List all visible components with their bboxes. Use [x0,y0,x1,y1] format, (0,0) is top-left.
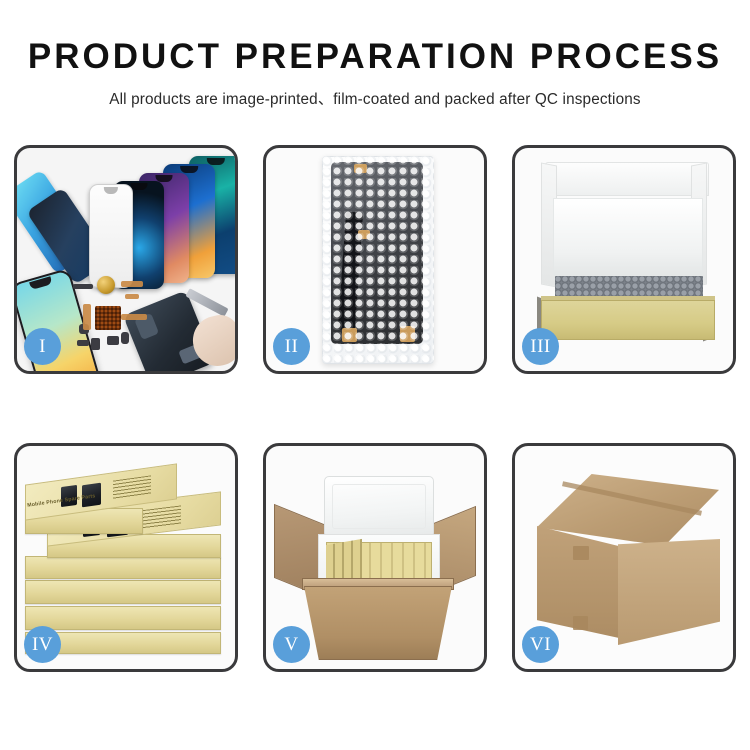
process-step-panel-3[interactable]: III [512,145,736,374]
tape-piece-2 [358,230,370,239]
component-bit-4 [107,336,119,345]
carton-front-panel [304,586,452,660]
component-bit-3 [91,338,100,350]
process-step-panel-5[interactable]: V [263,443,487,672]
page-subtitle: All products are image-printed、film-coat… [0,87,750,109]
chip-grid-icon [95,306,121,330]
styrofoam-cooler-lid [324,476,434,538]
step-badge-6: VI [522,626,559,663]
carton-tape-upper [573,546,589,560]
page-title: PRODUCT PREPARATION PROCESS [0,38,750,76]
flex-cable-1 [121,281,143,287]
process-step-panel-6[interactable]: VI [512,443,736,672]
step-badge-3: III [522,328,559,365]
stacked-box-3 [25,556,221,579]
box-lid-back [545,162,709,196]
carton-right-face [618,539,720,645]
component-bit-6 [77,340,89,346]
step-badge-5: V [273,626,310,663]
component-bit-1 [73,284,93,289]
flex-cable-3 [83,304,91,330]
process-step-grid: I II [14,145,736,672]
product-preparation-process-page: PRODUCT PREPARATION PROCESS All products… [0,0,750,750]
page-header: PRODUCT PREPARATION PROCESS All products… [0,0,750,109]
tape-piece-3 [342,328,357,342]
flex-cable-4 [121,314,147,320]
phone-screen-1 [89,184,133,288]
tape-piece-4 [400,326,415,342]
process-step-panel-2[interactable]: II [263,145,487,374]
process-step-panel-1[interactable]: I [14,145,238,374]
vibration-motor-icon [97,276,115,294]
carton-tape-lower [573,616,588,630]
stacked-box-4 [25,580,221,604]
component-bit-5 [121,332,129,344]
step-badge-1: I [24,328,61,365]
kraft-box-front [541,300,715,340]
process-step-panel-4[interactable]: Mobile Phone Spare Parts Mobile Phone Sp… [14,443,238,672]
stacked-box-5 [25,606,221,630]
step-badge-2: II [273,328,310,365]
tape-piece-1 [354,164,367,173]
step-badge-4: IV [24,626,61,663]
white-foam-sheet [553,198,703,276]
flex-cable-2 [125,294,139,299]
